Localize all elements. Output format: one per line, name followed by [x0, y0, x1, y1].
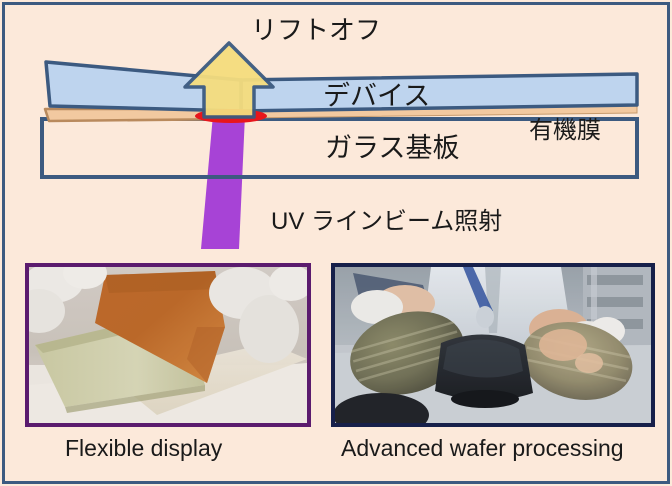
label-device: デバイス	[323, 83, 430, 110]
uv-line-beam	[201, 115, 245, 249]
figure-frame: リフトオフ デバイス ガラス基板 有機膜 UV ラインビーム照射	[2, 2, 670, 484]
label-liftoff: リフトオフ	[251, 17, 381, 43]
label-organic-film: 有機膜	[529, 119, 601, 143]
label-uv-line-beam: UV ラインビーム照射	[271, 210, 502, 234]
caption-advanced-wafer: Advanced wafer processing	[341, 437, 624, 460]
advanced-wafer-processing-photo	[331, 263, 655, 427]
flexible-display-photo	[25, 263, 311, 427]
figure-root: リフトオフ デバイス ガラス基板 有機膜 UV ラインビーム照射	[0, 0, 672, 486]
label-glass-substrate: ガラス基板	[325, 135, 459, 162]
caption-flexible-display: Flexible display	[65, 437, 222, 460]
device-layer-flat	[241, 74, 637, 111]
